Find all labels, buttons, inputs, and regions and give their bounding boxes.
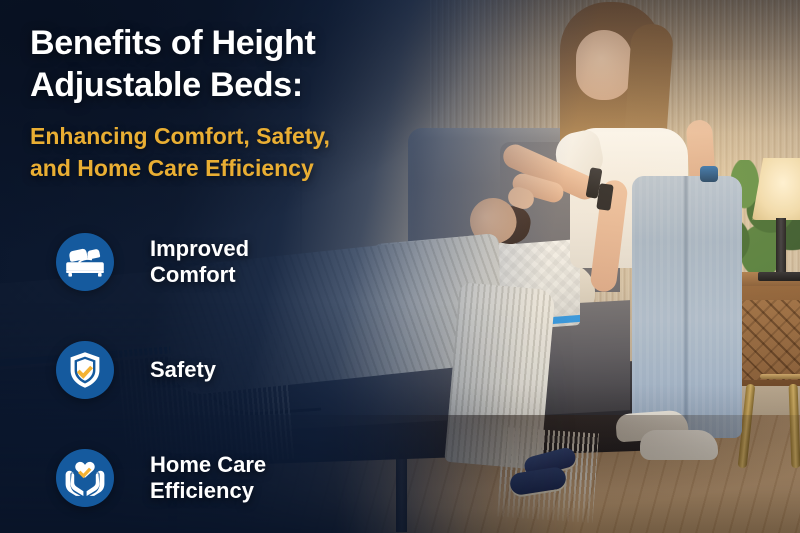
benefit-icon-circle <box>56 341 114 399</box>
benefit-item-improved-comfort: Improved Comfort <box>56 226 266 298</box>
hands-heart-check-icon <box>65 460 105 496</box>
promotional-banner: Benefits of Height Adjustable Beds: Enha… <box>0 0 800 533</box>
benefit-label: Safety <box>150 357 216 383</box>
subheadline: Enhancing Comfort, Safety, and Home Care… <box>30 120 430 184</box>
benefit-label: Improved Comfort <box>150 236 249 288</box>
shield-check-icon <box>68 351 102 389</box>
subheadline-line-1: Enhancing Comfort, Safety, <box>30 120 430 152</box>
bed-pillow-icon <box>66 247 104 277</box>
headline: Benefits of Height Adjustable Beds: <box>30 22 430 106</box>
benefit-icon-circle <box>56 449 114 507</box>
headline-line-1: Benefits of Height <box>30 22 430 64</box>
benefit-icon-circle <box>56 233 114 291</box>
benefit-item-home-care-efficiency: Home Care Efficiency <box>56 442 266 514</box>
benefit-item-safety: Safety <box>56 334 266 406</box>
benefit-label: Home Care Efficiency <box>150 452 266 504</box>
banner-content: Benefits of Height Adjustable Beds: Enha… <box>0 0 800 533</box>
benefits-list: Improved Comfort Safety <box>56 226 266 514</box>
headline-line-2: Adjustable Beds: <box>30 64 430 106</box>
subheadline-line-2: and Home Care Efficiency <box>30 152 430 184</box>
